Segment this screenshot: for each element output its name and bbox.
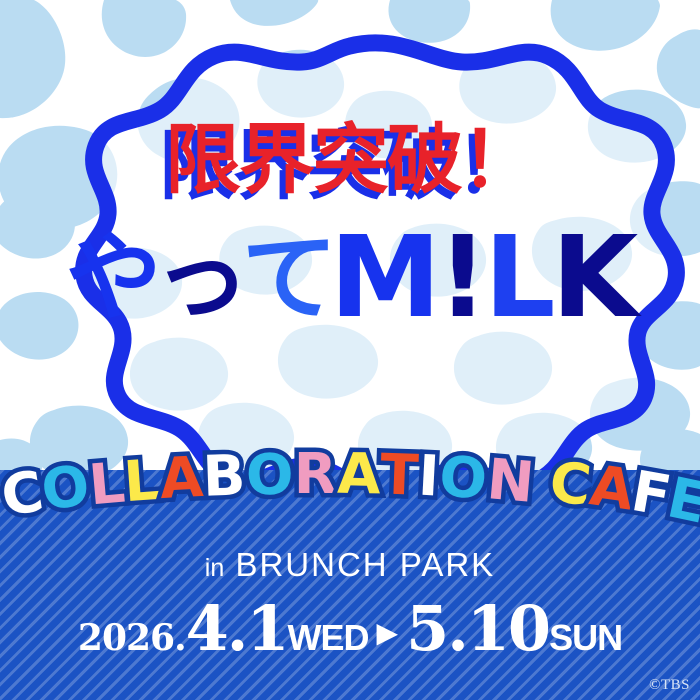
date-range-arrow-icon: ▶ xyxy=(369,619,407,647)
collaboration-cafe-title: COLLABORATIONCAFE xyxy=(0,455,700,535)
cafe-letter-4: L xyxy=(122,453,162,511)
wordmark-char-ya: や xyxy=(66,230,154,326)
logo-block: 限界突破！ やってM!LK xyxy=(0,0,700,470)
wordmark-char-k: K xyxy=(552,222,635,334)
subtitle-venue: BRUNCH PARK xyxy=(235,546,495,583)
cafe-letter-3: L xyxy=(87,456,127,515)
date-end: 5.10 xyxy=(406,598,549,660)
headline-kanji: 限界突破！ xyxy=(0,122,700,198)
wordmark-yattemilk: やってM!LK xyxy=(0,222,700,334)
wordmark-char-l: L xyxy=(484,222,551,334)
cafe-letter-9: A xyxy=(337,447,381,504)
venue-subtitle: in BRUNCH PARK xyxy=(0,546,700,584)
event-date-range: 2026.4.1WED▶5.10SUN xyxy=(0,598,700,660)
subtitle-prefix: in xyxy=(205,554,224,582)
wordmark-char-te: て xyxy=(242,230,330,326)
poster-root: 限界突破！ やってM!LK COLLABORATIONCAFE in BRUNC… xyxy=(0,0,700,700)
cafe-letter-10: T xyxy=(379,447,419,504)
wordmark-char-bang: ! xyxy=(437,222,484,334)
copyright-notice: ©TBS xyxy=(649,677,690,694)
date-start-day: WED xyxy=(288,620,369,656)
date-end-day: SUN xyxy=(549,620,622,656)
cafe-letter-6: B xyxy=(202,448,247,505)
wordmark-char-m: M xyxy=(330,222,437,334)
date-year: 2026. xyxy=(78,620,186,656)
cafe-letter-5: A xyxy=(158,450,204,508)
cafe-letter-2: O xyxy=(39,458,93,519)
cafe-letter-13: N xyxy=(485,452,537,512)
cafe-letter-12: O xyxy=(438,449,489,508)
date-start: 4.1 xyxy=(186,598,288,660)
wordmark-char-tsu: っ xyxy=(154,230,242,326)
cafe-letter-7: O xyxy=(246,448,295,505)
cafe-letter-8: R xyxy=(294,447,337,503)
